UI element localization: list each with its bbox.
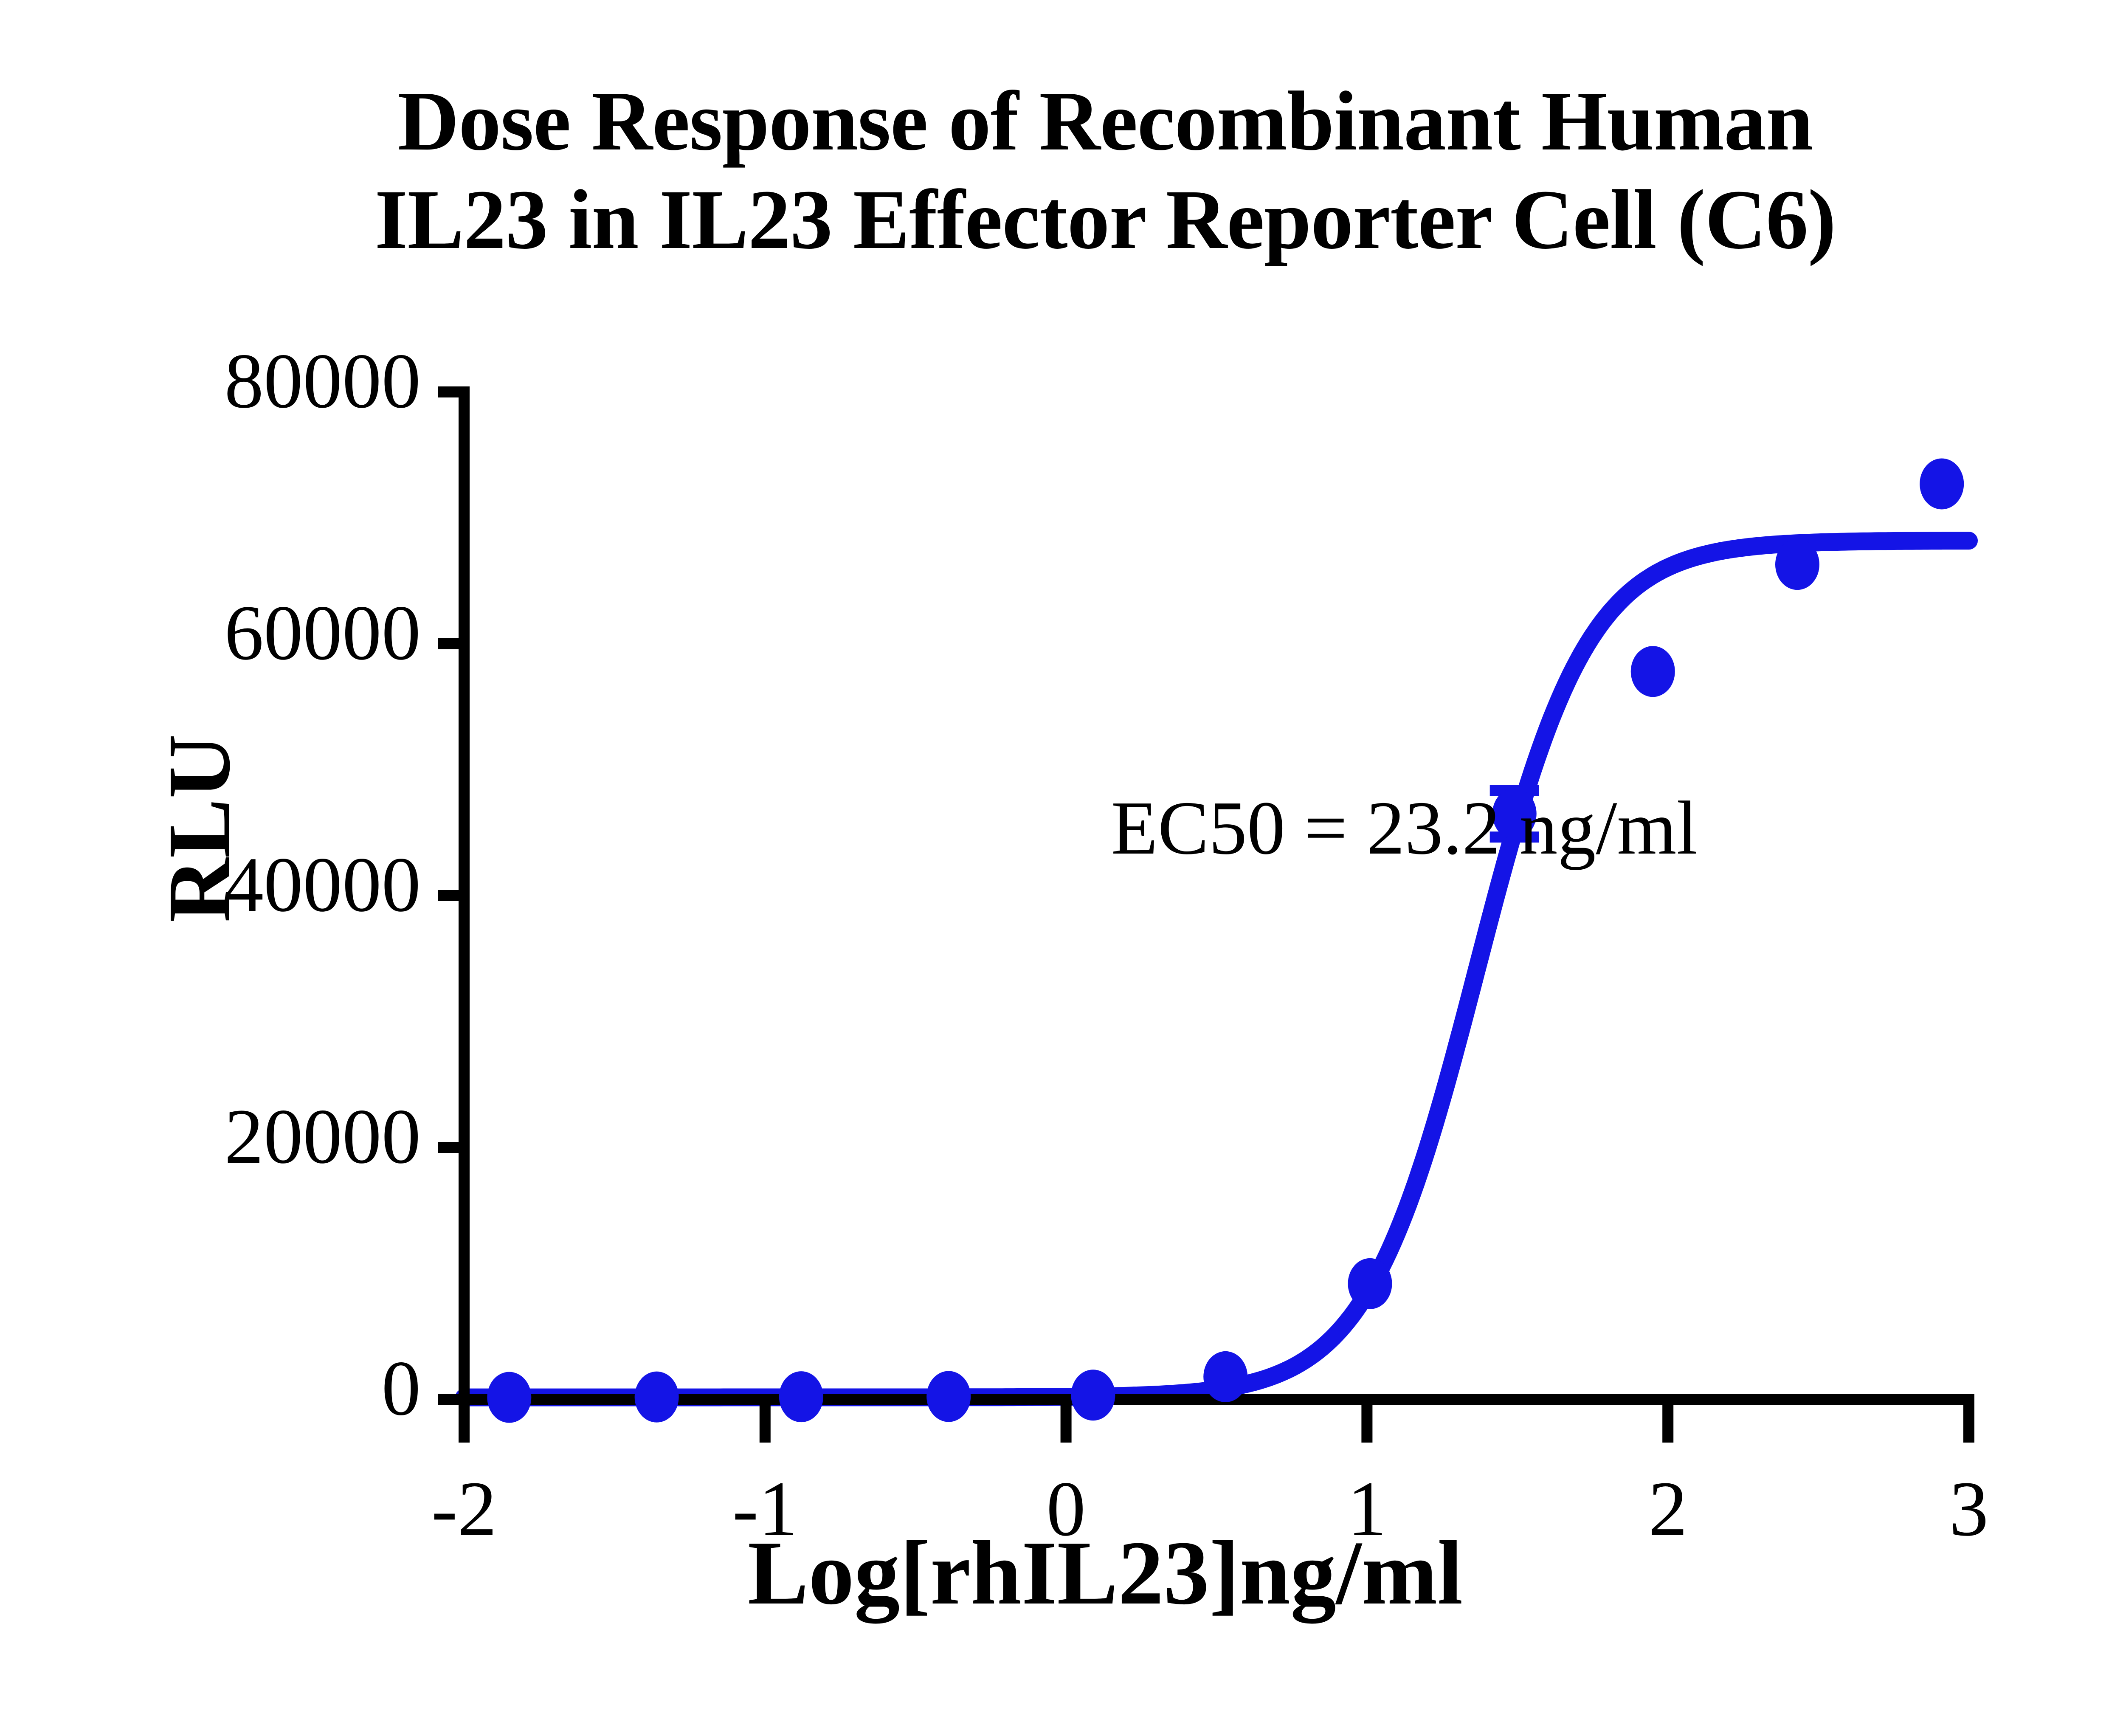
x-tick-label: -2 bbox=[379, 1464, 549, 1554]
y-tick-label: 40000 bbox=[39, 840, 421, 930]
data-points bbox=[487, 458, 1964, 1423]
x-tick-label: 1 bbox=[1282, 1464, 1452, 1554]
fit-curve bbox=[464, 541, 1969, 1397]
x-tick-label: 3 bbox=[1884, 1464, 2054, 1554]
y-tick-label: 60000 bbox=[39, 588, 421, 678]
x-tick-label: 0 bbox=[981, 1464, 1151, 1554]
y-tick-label: 20000 bbox=[39, 1091, 421, 1182]
chart-figure: Dose Response of Recombinant Human IL23 … bbox=[0, 0, 2123, 1736]
y-tick-label: 80000 bbox=[39, 336, 421, 426]
x-tick-label: 2 bbox=[1583, 1464, 1753, 1554]
x-tick-label: -1 bbox=[680, 1464, 850, 1554]
y-axis-title: RLU bbox=[149, 680, 251, 977]
y-tick-label: 0 bbox=[39, 1343, 421, 1434]
ec50-annotation: EC50 = 23.2 ng/ml bbox=[1111, 784, 1698, 872]
